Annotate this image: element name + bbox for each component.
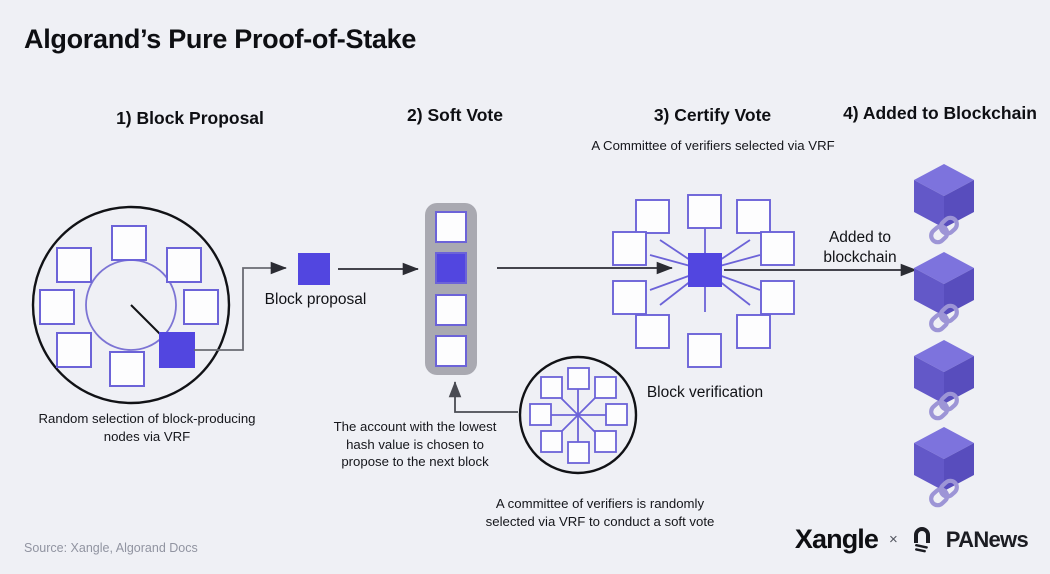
committee-node bbox=[606, 404, 627, 425]
committee-circle-outline bbox=[520, 357, 636, 473]
stake-node bbox=[57, 333, 91, 367]
block-proposal-block bbox=[298, 253, 330, 285]
committee-node bbox=[541, 431, 562, 452]
soft-vote-cell bbox=[435, 211, 467, 243]
verifier-node bbox=[613, 281, 646, 314]
blockchain-column bbox=[914, 164, 974, 508]
soft-vote-cell bbox=[435, 335, 467, 367]
chain-link-icon bbox=[929, 391, 960, 421]
section-heading-certify-vote: 3) Certify Vote bbox=[590, 105, 835, 127]
selection-pointer-line bbox=[131, 305, 178, 352]
stake-node bbox=[110, 352, 144, 386]
verifier-node bbox=[761, 281, 794, 314]
caption-soft-vote-committee: A committee of verifiers is randomly sel… bbox=[480, 495, 720, 530]
stage1-node-circle bbox=[33, 207, 229, 403]
committee-node bbox=[595, 431, 616, 452]
soft-vote-cell bbox=[435, 294, 467, 326]
soft-vote-cell-selected bbox=[435, 252, 467, 284]
verifier-node bbox=[636, 315, 669, 348]
diagram-stage: Algorand’s Pure Proof-of-Stake 1) Block … bbox=[0, 0, 1050, 574]
brand-separator: × bbox=[889, 531, 898, 548]
label-block-proposal: Block proposal bbox=[258, 290, 373, 310]
verifier-node bbox=[761, 232, 794, 265]
outer-circle bbox=[33, 207, 229, 403]
committee-node bbox=[530, 404, 551, 425]
stake-node bbox=[167, 248, 201, 282]
stake-node bbox=[40, 290, 74, 324]
chain-link-icon bbox=[929, 215, 960, 245]
xangle-logo-text: Xangle bbox=[795, 524, 878, 555]
committee-node bbox=[541, 377, 562, 398]
diagram-svg bbox=[0, 0, 1050, 574]
committee-node bbox=[595, 377, 616, 398]
brand-row: Xangle × PANews bbox=[795, 524, 1028, 555]
committee-spokes bbox=[546, 383, 610, 447]
section-heading-added-to-blockchain: 4) Added to Blockchain bbox=[840, 103, 1040, 125]
source-note: Source: Xangle, Algorand Docs bbox=[24, 541, 198, 555]
verifier-node bbox=[688, 195, 721, 228]
verifier-node bbox=[613, 232, 646, 265]
panews-logo-text: PANews bbox=[946, 527, 1028, 553]
section-heading-soft-vote: 2) Soft Vote bbox=[320, 105, 590, 127]
certify-spokes bbox=[650, 228, 760, 312]
chain-link-icon bbox=[929, 478, 960, 508]
soft-vote-stack bbox=[425, 203, 477, 375]
chain-link-icon bbox=[929, 303, 960, 333]
committee-node bbox=[568, 442, 589, 463]
section-heading-block-proposal: 1) Block Proposal bbox=[60, 108, 320, 130]
committee-nodes bbox=[530, 368, 627, 463]
certify-vote-star bbox=[613, 195, 794, 367]
caption-committee-vrf: A Committee of verifiers selected via VR… bbox=[588, 137, 838, 155]
connector-committee-to-softvote bbox=[455, 382, 518, 412]
committee-node bbox=[568, 368, 589, 389]
certify-center-block bbox=[688, 253, 722, 287]
blockchain-cube bbox=[914, 252, 974, 316]
caption-lowest-hash-value: The account with the lowest hash value i… bbox=[330, 418, 500, 471]
caption-random-selection: Random selection of block-producing node… bbox=[22, 410, 272, 445]
label-block-verification: Block verification bbox=[630, 383, 780, 403]
panews-logo-icon bbox=[909, 526, 935, 554]
stake-node bbox=[112, 226, 146, 260]
page-title: Algorand’s Pure Proof-of-Stake bbox=[24, 24, 416, 55]
stake-node-selected bbox=[160, 333, 194, 367]
verifier-node bbox=[636, 200, 669, 233]
blockchain-cube bbox=[914, 164, 974, 228]
verifier-node bbox=[688, 334, 721, 367]
label-added-to-blockchain: Added to blockchain bbox=[800, 228, 920, 268]
stake-node bbox=[184, 290, 218, 324]
stake-node bbox=[57, 248, 91, 282]
blockchain-cube bbox=[914, 340, 974, 404]
blockchain-cube bbox=[914, 427, 974, 491]
inner-circle bbox=[86, 260, 176, 350]
certify-nodes bbox=[613, 195, 794, 367]
verifier-node bbox=[737, 200, 770, 233]
verifier-node bbox=[737, 315, 770, 348]
soft-vote-committee-circle bbox=[520, 357, 636, 473]
